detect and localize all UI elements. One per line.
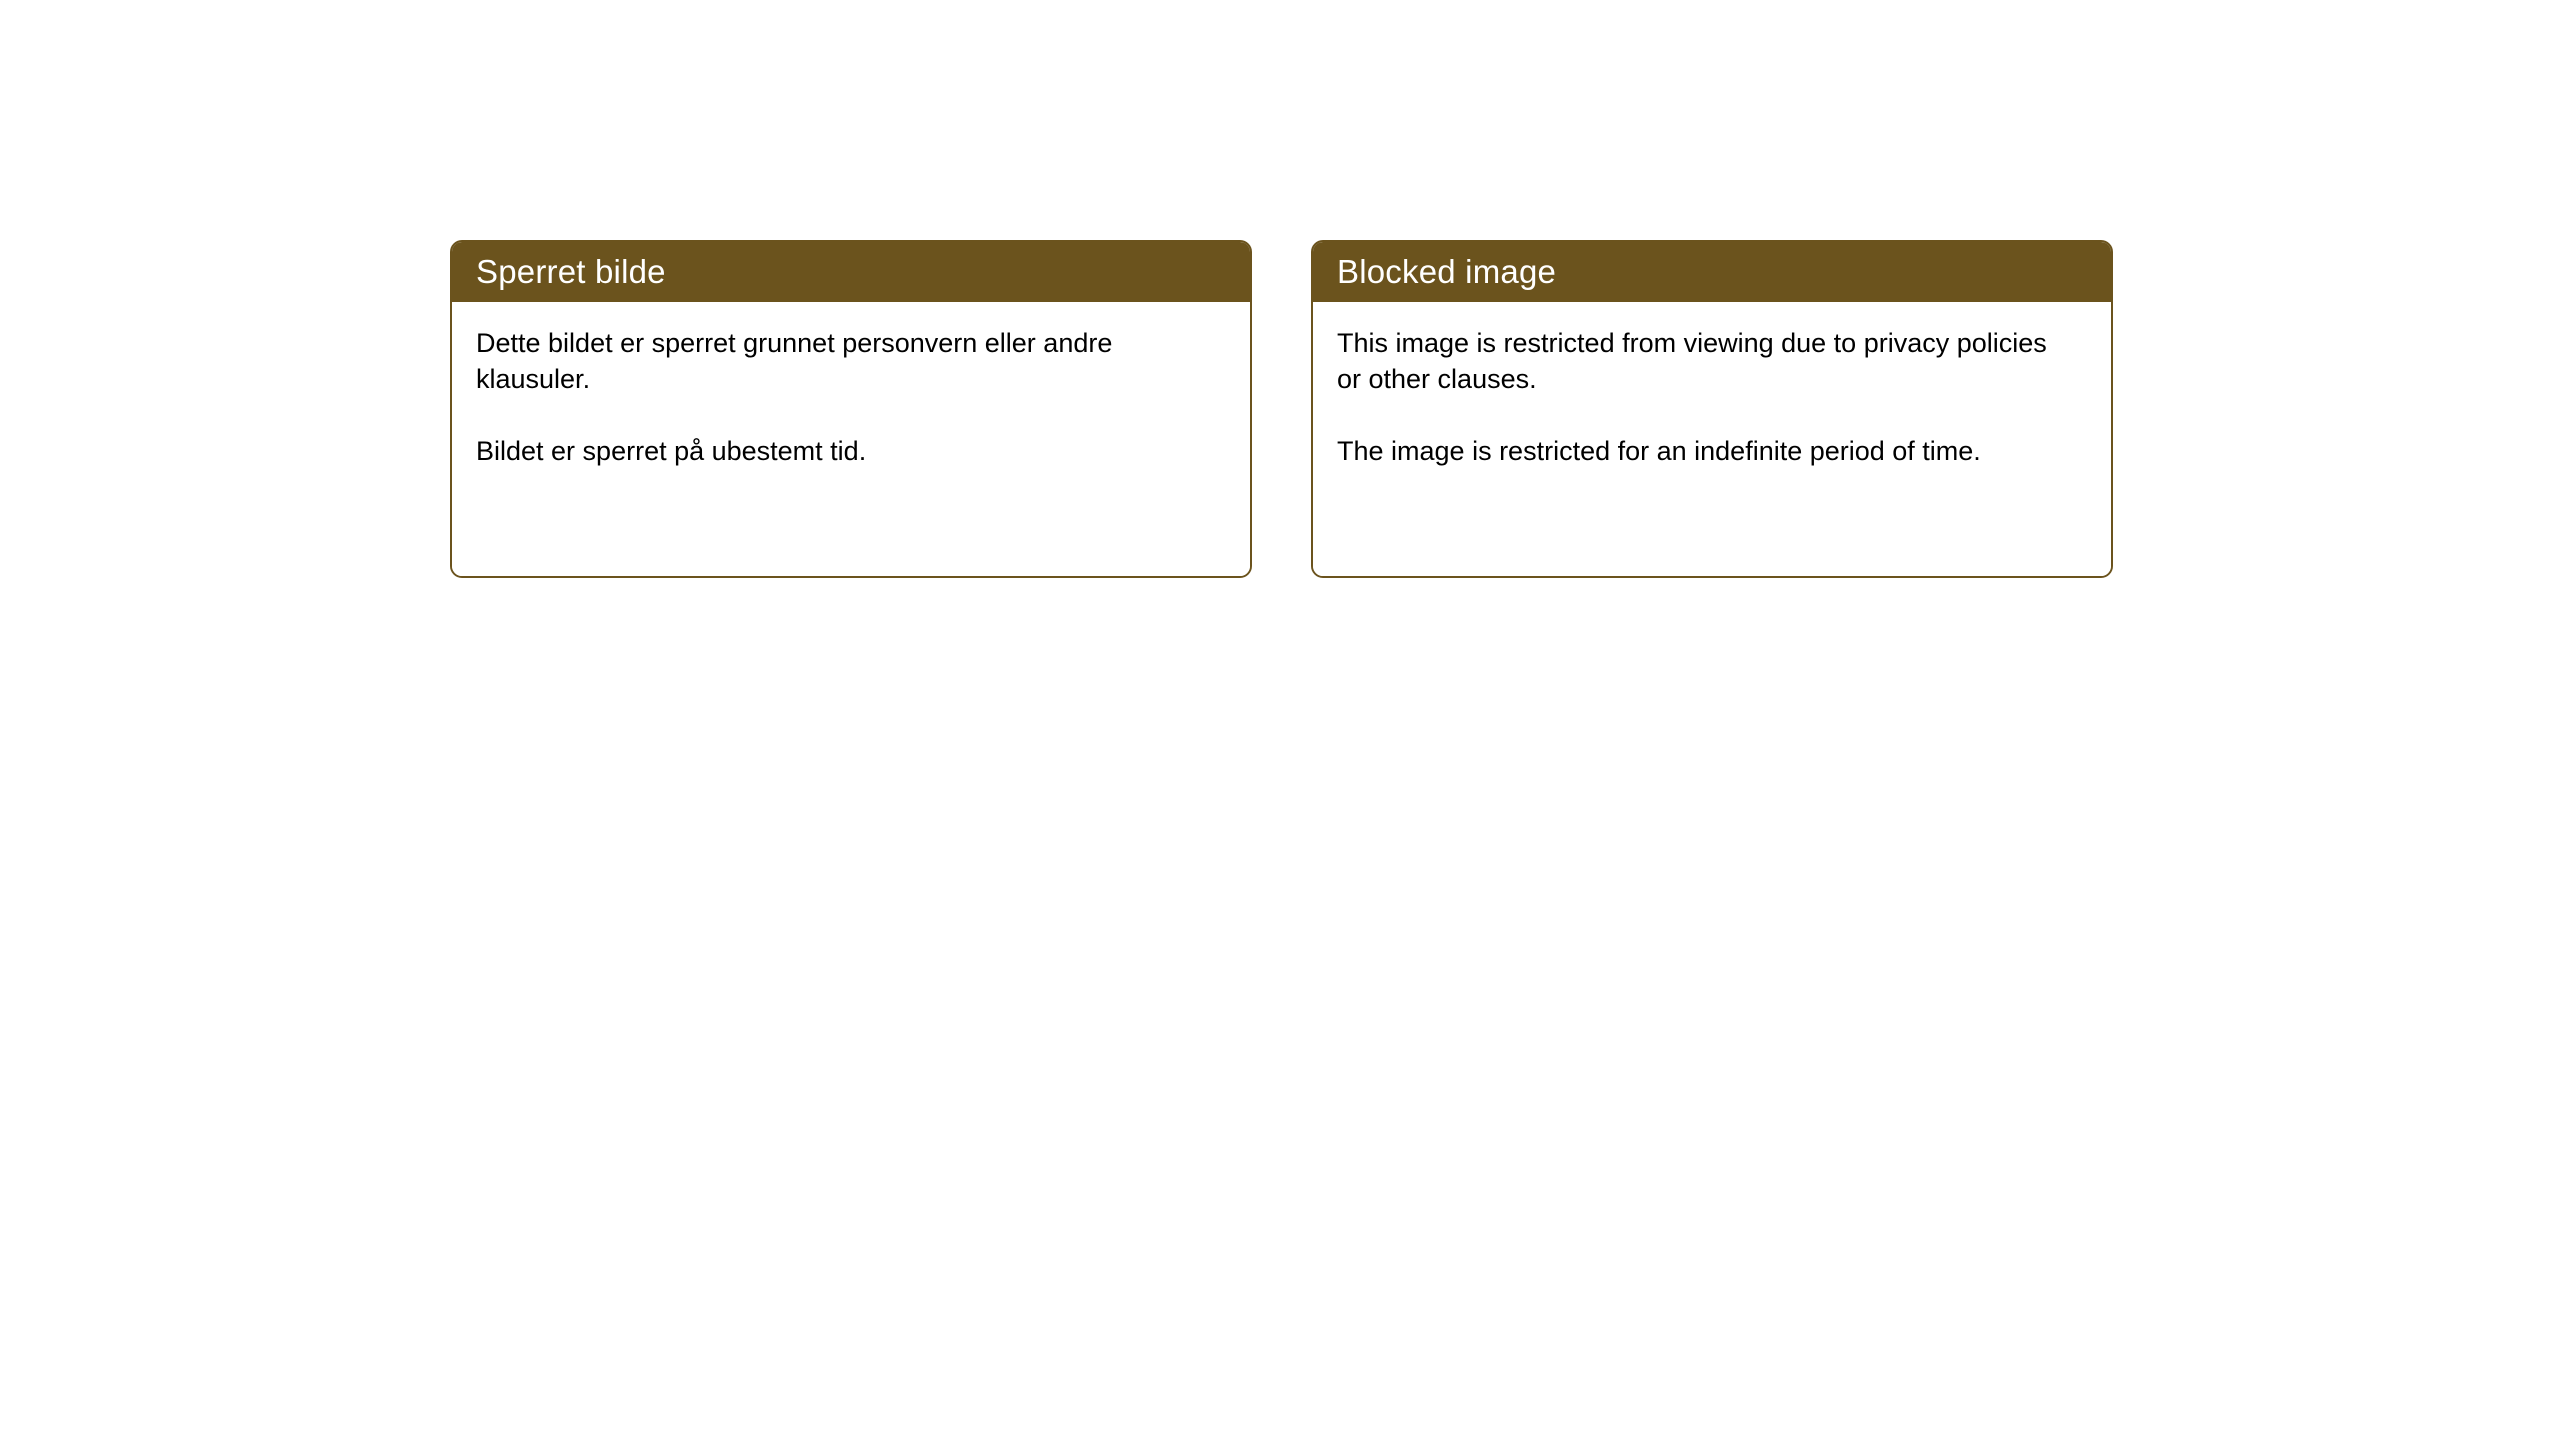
blocked-image-notice-card-norwegian: Sperret bilde Dette bildet er sperret gr… xyxy=(450,240,1252,578)
notice-header-english: Blocked image xyxy=(1313,242,2111,302)
blocked-image-notice-card-english: Blocked image This image is restricted f… xyxy=(1311,240,2113,578)
notice-body-english: This image is restricted from viewing du… xyxy=(1313,302,2111,576)
notice-paragraph-secondary-norwegian: Bildet er sperret på ubestemt tid. xyxy=(476,434,1216,470)
notice-header-norwegian: Sperret bilde xyxy=(452,242,1250,302)
notice-paragraph-primary-english: This image is restricted from viewing du… xyxy=(1337,326,2077,398)
notice-paragraph-primary-norwegian: Dette bildet er sperret grunnet personve… xyxy=(476,326,1216,398)
notice-title-norwegian: Sperret bilde xyxy=(476,254,666,290)
notice-title-english: Blocked image xyxy=(1337,254,1556,290)
notice-paragraph-secondary-english: The image is restricted for an indefinit… xyxy=(1337,434,2077,470)
notice-body-norwegian: Dette bildet er sperret grunnet personve… xyxy=(452,302,1250,576)
blocked-image-notice-group: Sperret bilde Dette bildet er sperret gr… xyxy=(450,240,2113,578)
